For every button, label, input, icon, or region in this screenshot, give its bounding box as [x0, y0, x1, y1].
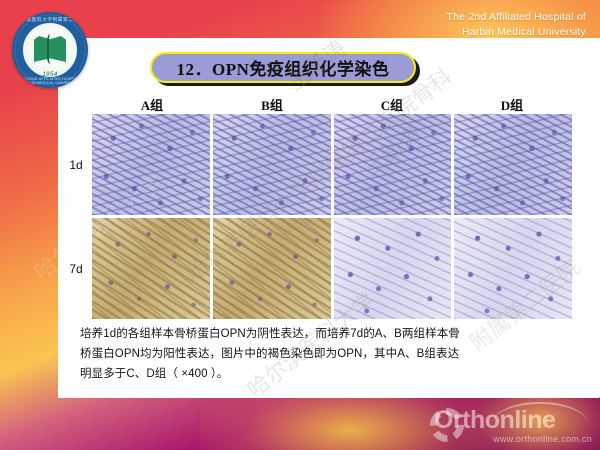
tissue-texture-blue	[213, 114, 331, 215]
orthonline-swoosh-icon	[492, 402, 588, 424]
orthonline-watermark-logo: Orthonline www.orthonline.com.cn	[382, 402, 594, 446]
column-headers: A组 B组 C组 D组	[92, 95, 572, 114]
orthonline-ring-icon	[430, 408, 464, 442]
micrograph-1d-d	[454, 114, 572, 215]
orthonline-url: www.orthonline.com.cn	[493, 434, 592, 444]
page-title: 12．OPN免疫组织化学染色	[177, 55, 390, 80]
slide-caption: 培养1d的各组样本骨桥蛋白OPN为阴性表达，而培养7d的A、B两组样本骨 桥蛋白…	[80, 325, 580, 384]
micrograph-7d-d	[454, 218, 572, 319]
content-card: 12．OPN免疫组织化学染色 A组 B组 C组 D组 1d 7d	[58, 38, 600, 398]
hospital-name-header: The 2nd Affiliated Hospital of Harbin Me…	[326, 10, 586, 40]
slide-canvas: 12．OPN免疫组织化学染色 A组 B组 C组 D组 1d 7d	[0, 0, 600, 450]
micrograph-1d-c	[334, 114, 452, 215]
column-header-c: C组	[332, 95, 452, 114]
micrograph-7d-b	[213, 218, 331, 319]
column-header-b: B组	[212, 95, 332, 114]
tissue-texture-pale	[334, 218, 452, 319]
micrograph-1d-b	[213, 114, 331, 215]
tissue-texture-brown	[92, 218, 210, 319]
tissue-texture-blue	[334, 114, 452, 215]
emblem-arc-cn: 哈尔滨医科大学附属第二医院	[12, 17, 88, 23]
slide-title-container: 12．OPN免疫组织化学染色	[150, 52, 420, 86]
hospital-name-line1: The 2nd Affiliated Hospital of	[326, 10, 586, 25]
tissue-texture-blue	[454, 114, 572, 215]
emblem-arc-en: THE SECOND AFFILIATED HOSPITAL OF HARBIN…	[12, 77, 88, 85]
hospital-name-line2: Harbin Medical University	[326, 25, 586, 40]
micrograph-1d-a	[92, 114, 210, 215]
column-header-a: A组	[92, 95, 212, 114]
university-emblem-icon: 哈尔滨医科大学附属第二医院 1954 THE SECOND AFFILIATED…	[12, 12, 88, 88]
caption-line-2: 桥蛋白OPN均为阳性表达，图片中的褐色染色即为OPN，其中A、B组表达	[80, 345, 580, 365]
micrograph-7d-a	[92, 218, 210, 319]
emblem-serpent-icon	[47, 34, 54, 64]
tissue-texture-brown	[213, 218, 331, 319]
caption-line-1: 培养1d的各组样本骨桥蛋白OPN为阴性表达，而培养7d的A、B两组样本骨	[80, 325, 580, 345]
row-label-1d: 1d	[63, 114, 89, 215]
micrograph-row-1d: 1d	[92, 114, 572, 215]
tissue-texture-blue	[92, 114, 210, 215]
caption-line-3: 明显多于C、D组（ ×400 ）。	[80, 365, 580, 385]
title-pill: 12．OPN免疫组织化学染色	[150, 52, 416, 83]
row-label-7d: 7d	[63, 218, 89, 319]
orthonline-name: Orthonline	[434, 406, 555, 435]
column-header-d: D组	[452, 95, 572, 114]
micrograph-row-7d: 7d	[92, 218, 572, 319]
micrograph-grid: 1d 7d	[92, 114, 572, 322]
tissue-texture-pale	[454, 218, 572, 319]
micrograph-7d-c	[334, 218, 452, 319]
